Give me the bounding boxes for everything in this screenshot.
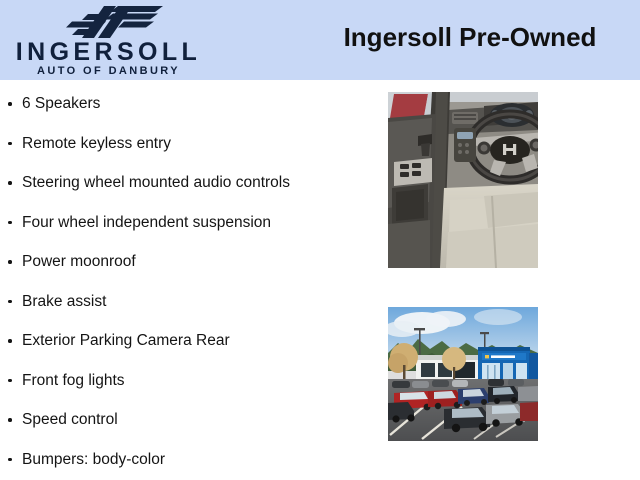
list-item: 6 Speakers xyxy=(0,84,380,124)
brand-subtitle: AUTO OF DANBURY xyxy=(6,66,211,77)
bullet-icon xyxy=(8,458,12,462)
list-item-label: Brake assist xyxy=(22,293,106,310)
bullet-icon xyxy=(8,102,12,106)
list-item: Speed control xyxy=(0,400,380,440)
bullet-icon xyxy=(8,181,12,185)
list-item: Exterior Parking Camera Rear xyxy=(0,321,380,361)
list-item: Steering wheel mounted audio controls xyxy=(0,163,380,203)
brand-name: INGERSOLL xyxy=(6,40,211,65)
list-item: Power moonroof xyxy=(0,242,380,282)
bullet-icon xyxy=(8,142,12,146)
bullet-icon xyxy=(8,260,12,264)
vehicle-features-list: 6 Speakers Remote keyless entry Steering… xyxy=(0,84,380,479)
list-item: Remote keyless entry xyxy=(0,124,380,164)
bullet-icon xyxy=(8,339,12,343)
dealership-exterior-photo xyxy=(388,307,538,441)
list-item-label: Exterior Parking Camera Rear xyxy=(22,332,230,349)
page-header: INGERSOLL AUTO OF DANBURY Ingersoll Pre-… xyxy=(0,0,640,80)
list-item: Four wheel independent suspension xyxy=(0,203,380,243)
brand-logo: INGERSOLL AUTO OF DANBURY xyxy=(6,2,211,78)
list-item-label: Front fog lights xyxy=(22,372,125,389)
list-item: Front fog lights xyxy=(0,361,380,401)
list-item-label: Remote keyless entry xyxy=(22,135,171,152)
list-item-label: Speed control xyxy=(22,411,118,428)
list-item-label: Steering wheel mounted audio controls xyxy=(22,174,290,191)
bullet-icon xyxy=(8,300,12,304)
page-title: Ingersoll Pre-Owned xyxy=(312,22,628,53)
ingersoll-wing-emblem-icon xyxy=(58,5,166,39)
list-item-label: Power moonroof xyxy=(22,253,136,270)
list-item: Bumpers: body-color xyxy=(0,440,380,480)
bullet-icon xyxy=(8,418,12,422)
list-item-label: Four wheel independent suspension xyxy=(22,214,271,231)
list-item-label: Bumpers: body-color xyxy=(22,451,165,468)
list-item: Brake assist xyxy=(0,282,380,322)
bullet-icon xyxy=(8,379,12,383)
bullet-icon xyxy=(8,221,12,225)
vehicle-interior-photo xyxy=(388,92,538,268)
list-item-label: 6 Speakers xyxy=(22,95,100,112)
